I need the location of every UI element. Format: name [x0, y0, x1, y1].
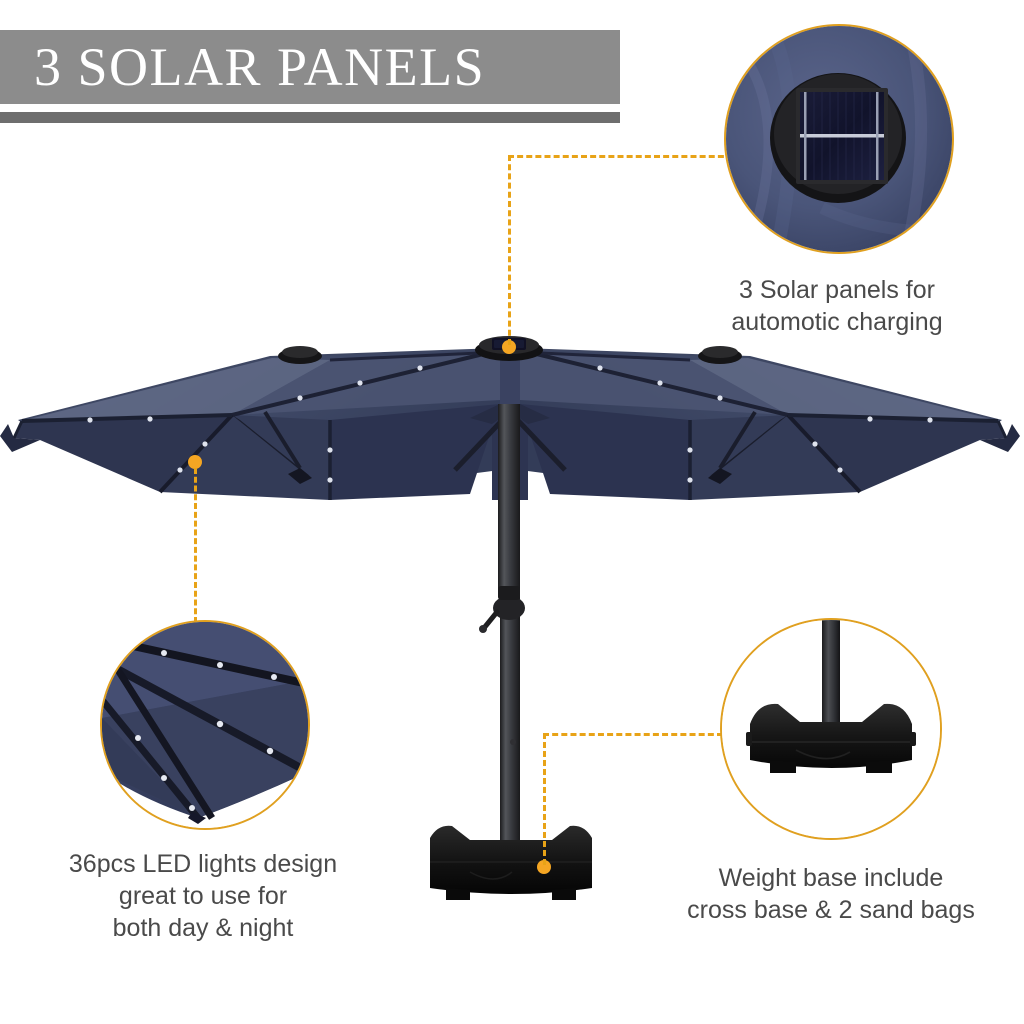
right-canopy-cap — [698, 346, 742, 364]
left-canopy-cap — [278, 346, 322, 364]
connector-base-vertical — [543, 733, 546, 865]
solar-panel-closeup-image — [726, 26, 952, 252]
connector-led-vertical — [194, 468, 197, 623]
led-lights-closeup-circle — [100, 620, 310, 830]
infographic-canvas: 3 SOLAR PANELS — [0, 0, 1024, 1024]
connector-solar-vertical — [508, 155, 511, 345]
callout-weight-base-caption: Weight base include cross base & 2 sand … — [672, 862, 990, 926]
marker-led-rib — [188, 455, 202, 469]
connector-base-horizontal — [543, 733, 723, 736]
connector-solar-horizontal — [508, 155, 733, 158]
canopy-left — [0, 346, 500, 500]
callout-led-lights-caption: 36pcs LED lights design great to use for… — [52, 848, 354, 944]
led-lights-closeup-image — [102, 622, 308, 828]
weight-base-closeup-image — [722, 620, 940, 838]
solar-panel-closeup-circle — [724, 24, 954, 254]
weight-base-closeup-circle — [720, 618, 942, 840]
canopy-right — [520, 346, 1020, 500]
callout-solar-panel-caption: 3 Solar panels for automotic charging — [684, 274, 990, 338]
